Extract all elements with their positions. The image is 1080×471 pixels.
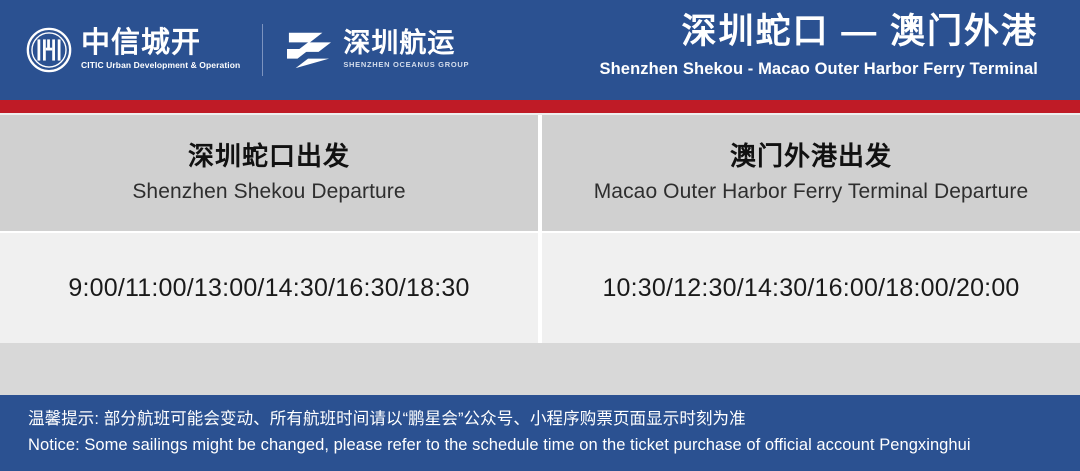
shenzhen-oceanus-logo: 深圳航运 SHENZHEN OCEANUS GROUP xyxy=(285,28,469,72)
route-title-en: Shenzhen Shekou - Macao Outer Harbor Fer… xyxy=(600,59,1038,80)
logo-group: 中信城开 CITIC Urban Development & Operation… xyxy=(26,24,469,76)
notice-text-cn: 温馨提示: 部分航班可能会变动、所有航班时间请以“鹏星会”公众号、小程序购票页面… xyxy=(28,408,1080,432)
table-bottom-filler xyxy=(0,343,1080,395)
schedule-header-row: 深圳蛇口出发 Shenzhen Shekou Departure 澳门外港出发 … xyxy=(0,115,1080,231)
red-accent-bar xyxy=(0,100,1080,113)
times-cell-shekou: 9:00/11:00/13:00/14:30/16:30/18:30 xyxy=(0,233,538,343)
column-header-shekou-cn: 深圳蛇口出发 xyxy=(188,141,350,172)
shenzhen-oceanus-s-logo-icon xyxy=(285,28,333,72)
route-title-cn: 深圳蛇口 — 澳门外港 xyxy=(600,10,1038,54)
column-header-shekou: 深圳蛇口出发 Shenzhen Shekou Departure xyxy=(0,115,538,231)
citic-logo-text: 中信城开 CITIC Urban Development & Operation xyxy=(81,28,240,72)
notice-text-en: Notice: Some sailings might be changed, … xyxy=(28,434,1080,458)
citic-circle-logo-icon xyxy=(26,27,72,73)
shenzhen-oceanus-name-en: SHENZHEN OCEANUS GROUP xyxy=(343,60,469,71)
departure-times-macao: 10:30/12:30/14:30/16:00/18:00/20:00 xyxy=(602,274,1019,303)
citic-name-cn: 中信城开 xyxy=(81,28,240,58)
schedule-table: 深圳蛇口出发 Shenzhen Shekou Departure 澳门外港出发 … xyxy=(0,115,1080,343)
schedule-times-row: 9:00/11:00/13:00/14:30/16:30/18:30 10:30… xyxy=(0,233,1080,343)
citic-name-en: CITIC Urban Development & Operation xyxy=(81,60,240,72)
column-header-macao-en: Macao Outer Harbor Ferry Terminal Depart… xyxy=(594,179,1029,205)
route-title-block: 深圳蛇口 — 澳门外港 Shenzhen Shekou - Macao Oute… xyxy=(600,10,1038,80)
poster-header: 中信城开 CITIC Urban Development & Operation… xyxy=(0,0,1080,100)
shenzhen-oceanus-logo-text: 深圳航运 SHENZHEN OCEANUS GROUP xyxy=(343,29,469,71)
logo-separator xyxy=(262,24,263,76)
citic-logo: 中信城开 CITIC Urban Development & Operation xyxy=(26,27,240,73)
column-header-macao: 澳门外港出发 Macao Outer Harbor Ferry Terminal… xyxy=(542,115,1080,231)
column-header-shekou-en: Shenzhen Shekou Departure xyxy=(132,179,405,205)
ferry-schedule-poster: 中信城开 CITIC Urban Development & Operation… xyxy=(0,0,1080,471)
departure-times-shekou: 9:00/11:00/13:00/14:30/16:30/18:30 xyxy=(68,274,469,303)
column-header-macao-cn: 澳门外港出发 xyxy=(730,141,892,172)
poster-footer: 温馨提示: 部分航班可能会变动、所有航班时间请以“鹏星会”公众号、小程序购票页面… xyxy=(0,395,1080,471)
shenzhen-oceanus-name-cn: 深圳航运 xyxy=(343,29,469,57)
times-cell-macao: 10:30/12:30/14:30/16:00/18:00/20:00 xyxy=(542,233,1080,343)
